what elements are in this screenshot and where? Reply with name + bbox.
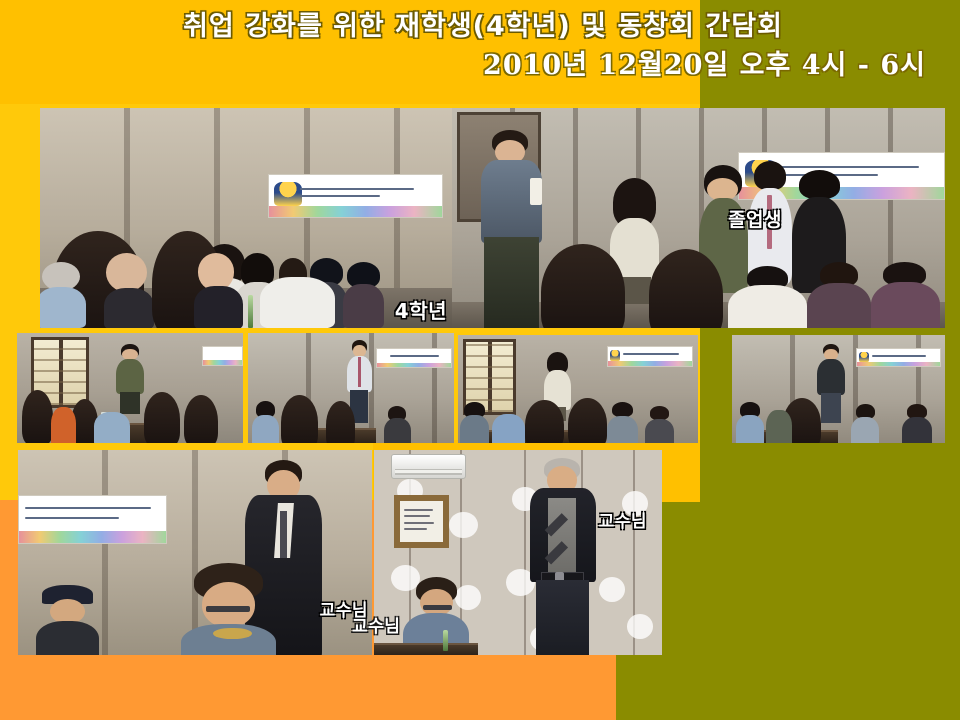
- banner-rainbow-stripe: [269, 206, 441, 217]
- foreground-person-glasses: [181, 563, 277, 655]
- event-banner: [268, 174, 442, 218]
- event-banner: [376, 348, 452, 368]
- banner-text-line-1: [300, 188, 414, 190]
- person-professor-standing: [530, 458, 596, 655]
- banner-mascot-icon: [274, 182, 302, 206]
- banner-rainbow-stripe: [377, 363, 451, 368]
- event-banner: [607, 346, 693, 368]
- photo-label-professor-2: 교수님: [599, 507, 647, 532]
- photo-5[interactable]: [458, 335, 698, 443]
- photo-8[interactable]: 교수님: [374, 450, 662, 655]
- person-seated: [736, 402, 764, 443]
- bottle: [443, 630, 448, 651]
- photo-label-fourth-year: 4학년: [395, 295, 447, 324]
- person-seated: [252, 401, 279, 443]
- event-banner: [202, 346, 243, 366]
- person-seated: [766, 402, 792, 443]
- photo-7[interactable]: 교수님: [18, 450, 372, 655]
- person-grey-hair: [40, 262, 86, 328]
- banner-text-line-1: [776, 166, 920, 168]
- bottle: [248, 295, 253, 328]
- foreground-person: [326, 401, 355, 443]
- foreground-person: [144, 392, 180, 443]
- person-white-hoodie: [260, 271, 335, 328]
- photo-label-professor-3-text: 교수님: [352, 617, 400, 637]
- photo-label-professor-3: 교수님: [352, 612, 400, 637]
- foreground-person-face: [198, 253, 240, 328]
- person-seated: [851, 404, 879, 443]
- photo-2[interactable]: 졸업생: [452, 108, 945, 328]
- foreground-person: [541, 244, 625, 328]
- person-seated: [645, 406, 674, 443]
- banner-text-line-1: [25, 507, 151, 509]
- person-seated: [902, 404, 932, 443]
- event-banner: [18, 495, 167, 544]
- person-standing-olive: [116, 344, 143, 412]
- slide-canvas: 취업 강화를 위한 재학생(4학년) 및 동창회 간담회 2010년 12월20…: [0, 0, 960, 720]
- foreground-person: [807, 262, 871, 328]
- person-blue-hoodie: [492, 411, 526, 443]
- framed-notice: [394, 495, 449, 548]
- photo-label-graduate: 졸업생: [728, 205, 782, 232]
- banner-rainbow-stripe: [608, 361, 692, 366]
- person-speaker-standing: [477, 130, 546, 328]
- banner-rainbow-stripe: [19, 531, 166, 543]
- photo-label-professor-2-text: 교수님: [599, 512, 647, 532]
- photo-3[interactable]: [17, 333, 243, 443]
- foreground-person: [184, 395, 218, 443]
- foreground-person: [22, 390, 54, 443]
- table: [374, 643, 478, 655]
- banner-text-line-2: [300, 195, 379, 197]
- air-conditioner: [391, 454, 466, 479]
- person-seated-cap: [343, 262, 385, 328]
- foreground-person: [568, 398, 606, 443]
- banner-rainbow-stripe: [857, 362, 940, 367]
- photo-4[interactable]: [248, 333, 454, 443]
- event-banner: [856, 348, 941, 367]
- foreground-person: [525, 400, 563, 443]
- person-orange-shirt: [51, 401, 76, 443]
- photo-1[interactable]: 4학년: [40, 108, 455, 328]
- title-band-yellow: [0, 0, 700, 106]
- foreground-person: [871, 262, 940, 328]
- person-seated: [607, 402, 638, 443]
- banner-rainbow-stripe: [203, 360, 242, 365]
- banner-text-line-2: [25, 517, 119, 519]
- banner-mascot-icon: [610, 350, 620, 361]
- person-blue-hoodie: [94, 410, 130, 443]
- photo-6[interactable]: [732, 335, 945, 443]
- person-seated-cap: [36, 585, 100, 655]
- banner-mascot-icon: [859, 352, 869, 362]
- person-seated: [460, 402, 489, 443]
- person-seated: [384, 406, 411, 443]
- person-standing-dark: [817, 344, 845, 422]
- foreground-person-hoodie: [728, 266, 807, 328]
- foreground-person-face: [106, 253, 152, 328]
